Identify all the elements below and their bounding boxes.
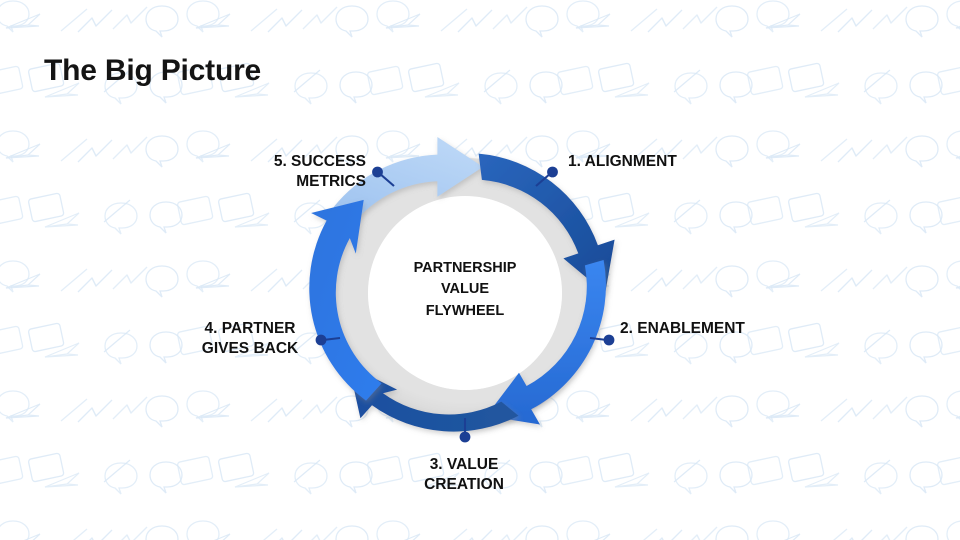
flywheel-label-2-enablement[interactable]: 2. ENABLEMENT <box>620 319 745 339</box>
label-3-line-1: 3. VALUE <box>398 455 530 475</box>
flywheel-label-4-partner-gives-back[interactable]: 4. PARTNER GIVES BACK <box>186 319 314 359</box>
center-label-line-2: VALUE <box>385 279 545 300</box>
label-5-line-1: 5. SUCCESS <box>246 152 366 172</box>
flywheel-diagram: PARTNERSHIP VALUE FLYWHEEL 1. ALIGNMENT … <box>0 0 960 540</box>
flywheel-label-5-success-metrics[interactable]: 5. SUCCESS METRICS <box>246 152 366 192</box>
label-1-line-1: 1. ALIGNMENT <box>568 152 677 172</box>
flywheel-center-label: PARTNERSHIP VALUE FLYWHEEL <box>385 258 545 322</box>
label-4-line-2: GIVES BACK <box>186 339 314 359</box>
connector-dot-3 <box>460 432 471 443</box>
connector-dot-1 <box>547 167 558 178</box>
center-label-line-1: PARTNERSHIP <box>385 258 545 279</box>
flywheel-label-3-value-creation[interactable]: 3. VALUE CREATION <box>398 455 530 495</box>
label-3-line-2: CREATION <box>398 475 530 495</box>
center-label-line-3: FLYWHEEL <box>385 301 545 322</box>
connector-dot-2 <box>604 335 615 346</box>
connector-dot-5 <box>372 167 383 178</box>
flywheel-label-1-alignment[interactable]: 1. ALIGNMENT <box>568 152 677 172</box>
slide-canvas: The Big Picture <box>0 0 960 540</box>
connector-dot-4 <box>316 335 327 346</box>
label-5-line-2: METRICS <box>246 172 366 192</box>
label-2-line-1: 2. ENABLEMENT <box>620 319 745 339</box>
label-4-line-1: 4. PARTNER <box>186 319 314 339</box>
